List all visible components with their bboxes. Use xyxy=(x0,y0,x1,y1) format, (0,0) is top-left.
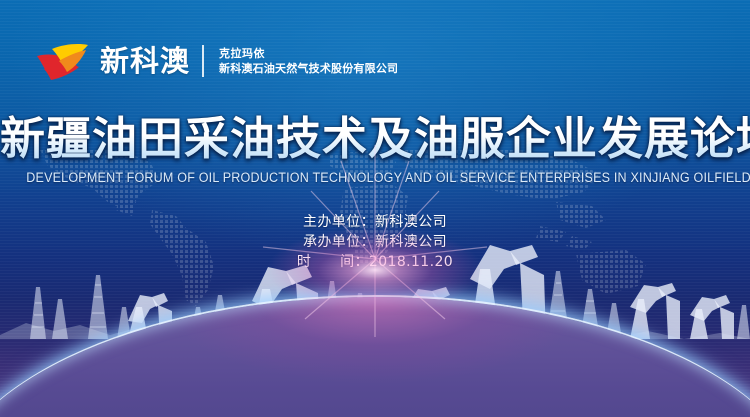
brand-divider xyxy=(202,45,204,77)
event-info-block: 主办单位：新科澳公司 承办单位：新科澳公司 时 间：2018.11.20 xyxy=(0,212,750,272)
info-host: 主办单位：新科澳公司 xyxy=(0,212,750,232)
info-organizer: 承办单位：新科澳公司 xyxy=(0,232,750,252)
brand-lockup: 新科澳 克拉玛依 新科澳石油天然气技术股份有限公司 xyxy=(34,40,398,82)
xinkeao-swoosh-logo-icon xyxy=(34,40,92,82)
info-date: 时 间：2018.11.20 xyxy=(0,252,750,272)
brand-company-full: 新科澳石油天然气技术股份有限公司 xyxy=(219,63,398,75)
brand-location: 克拉玛依 xyxy=(219,48,398,60)
brand-name-cn: 新科澳 xyxy=(100,47,190,76)
poster-title-en: DEVELOPMENT FORUM OF OIL PRODUCTION TECH… xyxy=(26,170,724,185)
brand-subtext: 克拉玛依 新科澳石油天然气技术股份有限公司 xyxy=(219,48,398,74)
event-poster: 新科澳 克拉玛依 新科澳石油天然气技术股份有限公司 新疆油田采油技术及油服企业发… xyxy=(0,0,750,417)
poster-title-cn: 新疆油田采油技术及油服企业发展论坛 xyxy=(0,114,750,164)
